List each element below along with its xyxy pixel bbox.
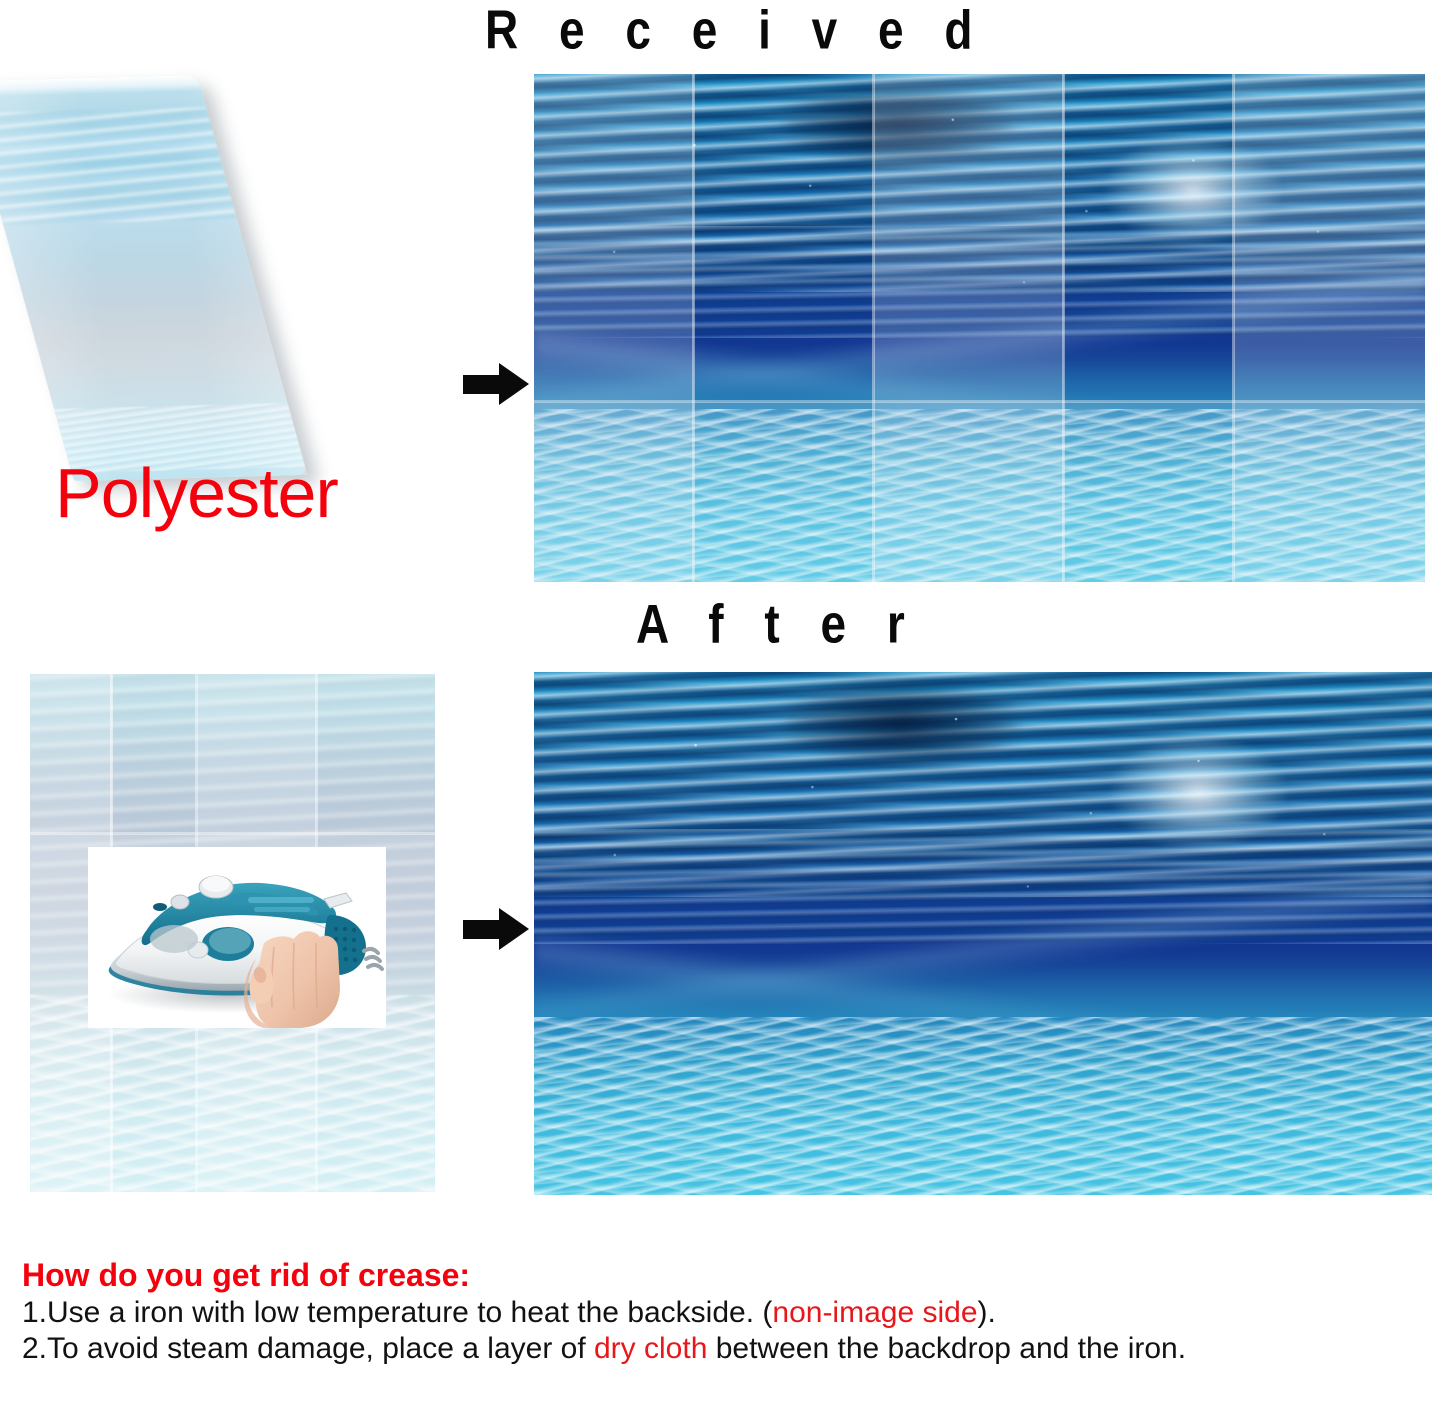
howto-step-1-prefix: 1.Use a iron with low temperature to hea…: [22, 1296, 772, 1329]
howto-step-1-suffix: ).: [978, 1296, 996, 1329]
received-backdrop-image: [534, 74, 1425, 582]
howto-step-1: 1.Use a iron with low temperature to hea…: [22, 1295, 1422, 1332]
received-heading: R e c e i v e d: [485, 0, 986, 62]
arrow-head: [499, 908, 529, 950]
howto-step-2-prefix: 2.To avoid steam damage, place a layer o…: [22, 1332, 594, 1365]
right-arrow-icon: [463, 363, 533, 405]
arrow-head: [499, 363, 529, 405]
iron-and-hand-svg: [88, 847, 386, 1028]
after-backdrop-image: [534, 672, 1432, 1195]
polyester-label: Polyester: [55, 458, 338, 528]
steam-iron-illustration: [88, 847, 386, 1028]
howto-title: How do you get rid of crease:: [22, 1257, 1422, 1295]
arrow-shaft: [463, 375, 503, 394]
iron-photo-card: [88, 847, 386, 1028]
right-arrow-icon: [463, 908, 533, 950]
swatch-sheen: [0, 75, 307, 481]
after-heading: A f t e r: [636, 592, 919, 656]
howto-step-2: 2.To avoid steam damage, place a layer o…: [22, 1331, 1422, 1368]
bubble-specks: [534, 74, 1425, 582]
howto-step-2-highlight: dry cloth: [594, 1332, 707, 1365]
product-infographic: R e c e i v e d Polyester: [0, 0, 1437, 1401]
howto-block: How do you get rid of crease: 1.Use a ir…: [22, 1257, 1422, 1368]
bubble-specks: [534, 672, 1432, 1195]
polyester-fabric-swatch: [0, 75, 307, 481]
howto-step-1-highlight: non-image side: [772, 1296, 977, 1329]
howto-step-2-suffix: between the backdrop and the iron.: [707, 1332, 1186, 1365]
arrow-shaft: [463, 920, 503, 939]
